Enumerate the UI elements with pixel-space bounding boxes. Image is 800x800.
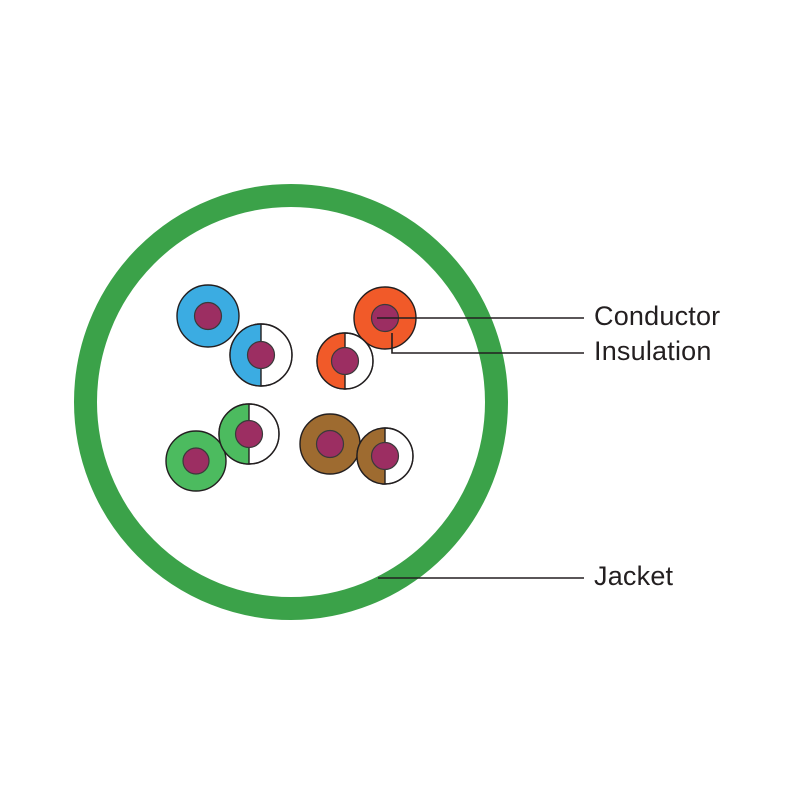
blue-pair-striped-conductor: [248, 342, 275, 369]
brown-pair-solid-wire: [300, 414, 360, 474]
green-pair-solid-conductor: [183, 448, 209, 474]
orange-pair-striped-wire: [317, 333, 373, 389]
green-pair-solid-wire: [166, 431, 226, 491]
green-pair-striped-wire: [219, 404, 279, 464]
callout-label-jacket: Jacket: [594, 561, 674, 591]
callout-label-insulation: Insulation: [594, 336, 712, 366]
brown-pair-solid-conductor: [317, 431, 344, 458]
blue-pair-striped-wire: [230, 324, 292, 386]
blue-pair-solid-wire: [177, 285, 239, 347]
blue-pair-solid-conductor: [195, 303, 222, 330]
orange-pair-striped-conductor: [332, 348, 359, 375]
diagram-background: [0, 0, 800, 800]
brown-pair-striped-conductor: [372, 443, 399, 470]
cable-cross-section-diagram: Conductor Insulation Jacket: [0, 0, 800, 800]
green-pair-striped-conductor: [236, 421, 263, 448]
brown-pair-striped-wire: [357, 428, 413, 484]
callout-label-conductor: Conductor: [594, 301, 720, 331]
diagram-canvas: Conductor Insulation Jacket: [0, 0, 800, 800]
